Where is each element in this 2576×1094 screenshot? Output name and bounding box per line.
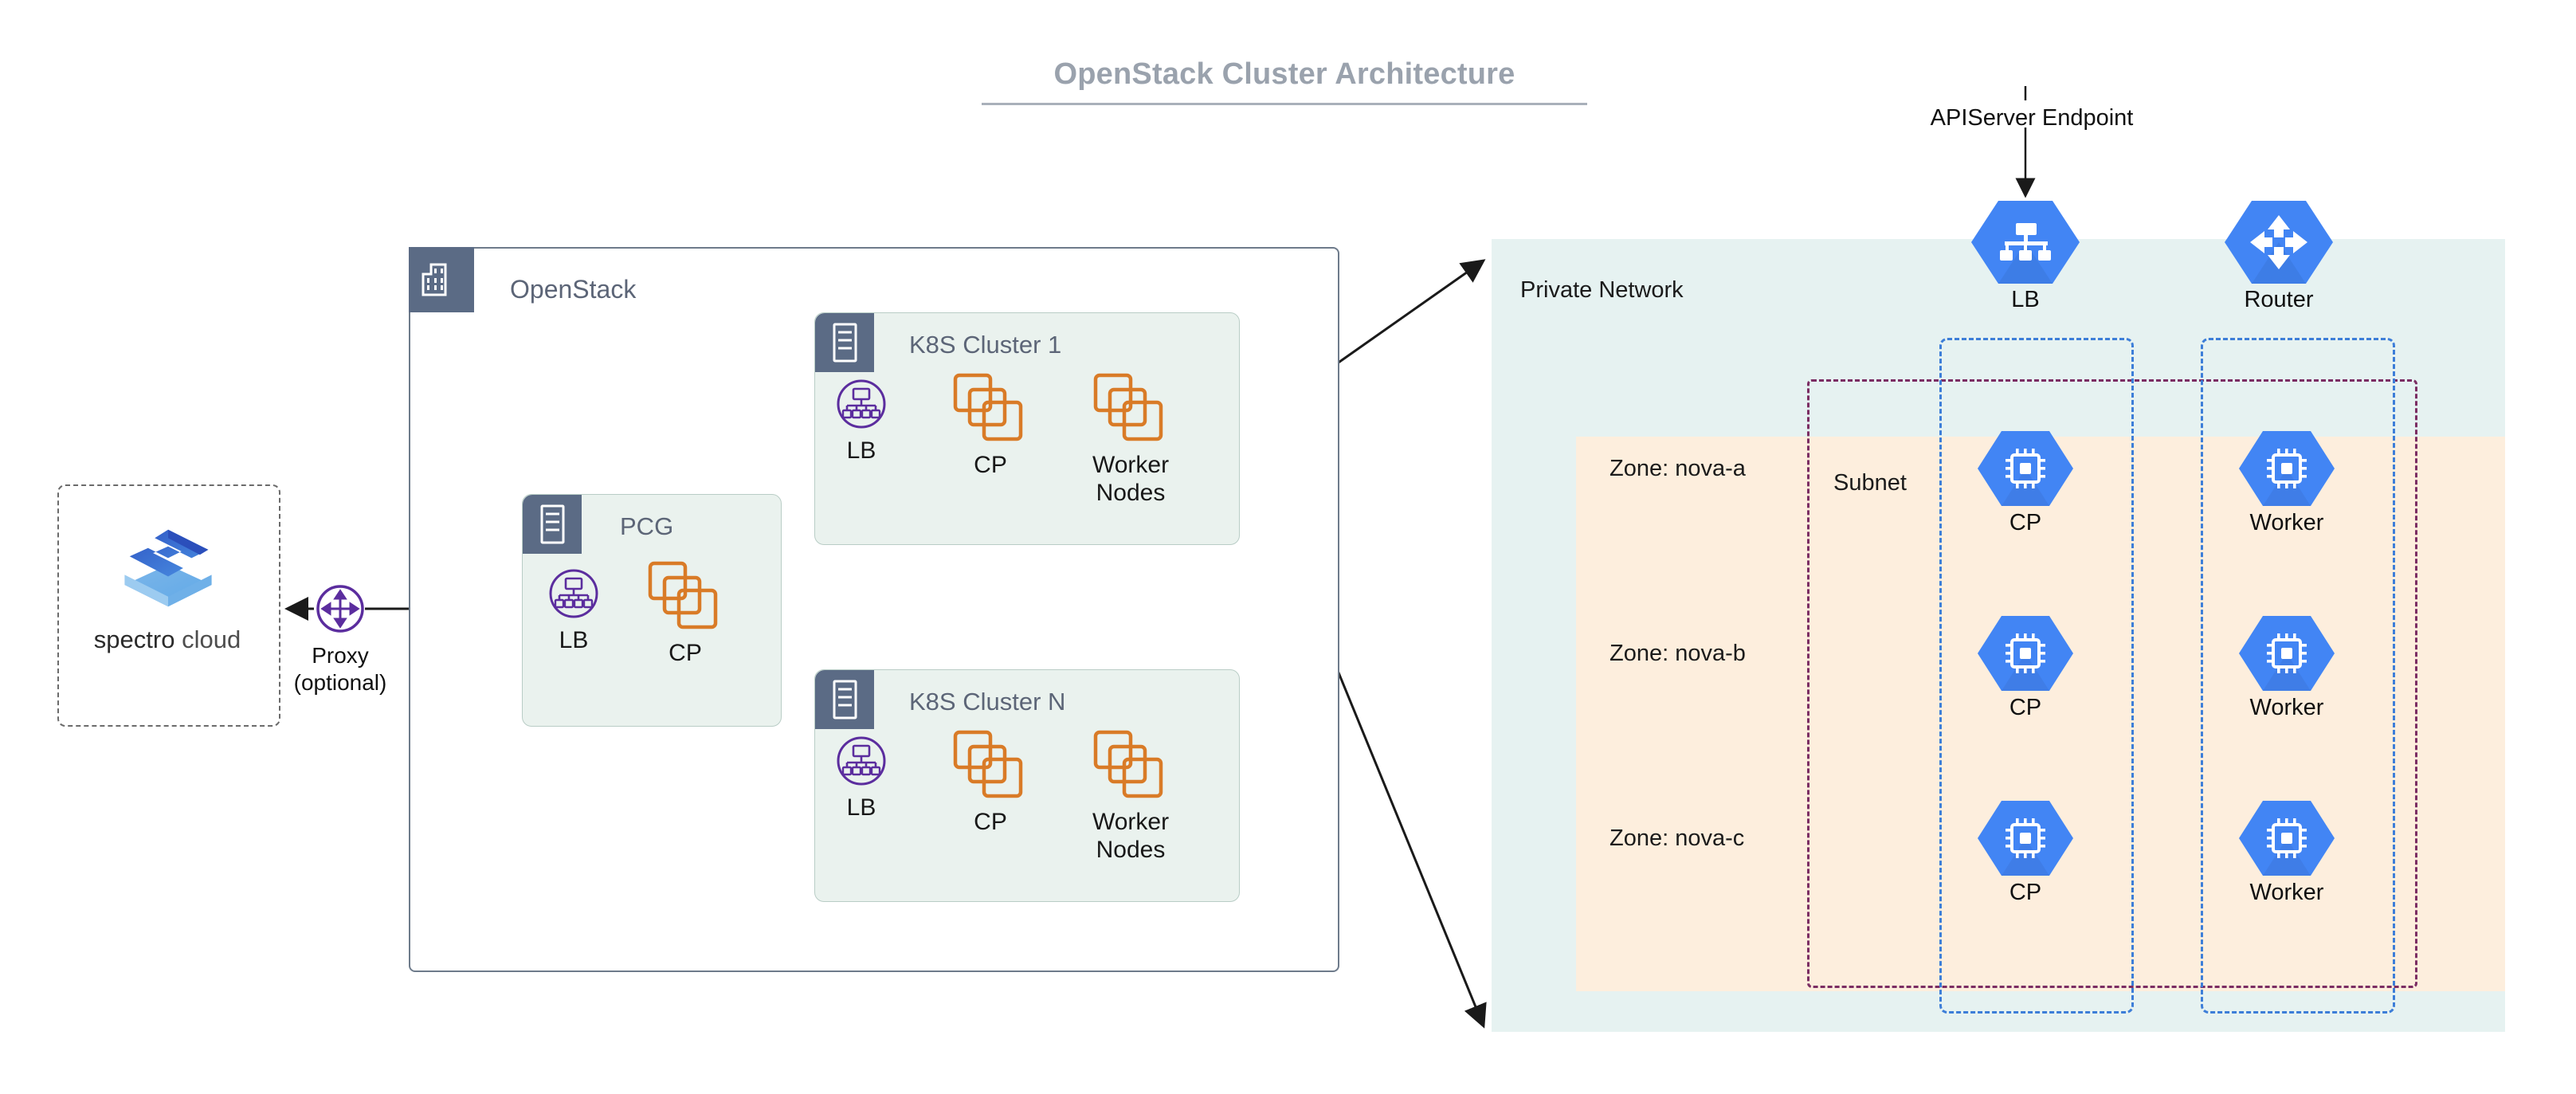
stacked-nodes-icon: [647, 560, 723, 630]
proxy-label: Proxy (optional): [261, 642, 420, 696]
server-rack-icon: [815, 670, 874, 729]
proxy-label-line1: Proxy: [261, 642, 420, 669]
pcg-card: PCG LB: [522, 494, 782, 727]
cpu-chip-hex-icon: [2231, 798, 2343, 878]
cpu-chip-hex-icon: [1970, 429, 2081, 508]
zone-b-worker-label: Worker: [2199, 695, 2374, 721]
stacked-nodes-icon: [1092, 729, 1169, 799]
spectro-cloud-wordmark: spectro cloud: [57, 625, 277, 654]
cpu-chip-hex-icon: [1970, 614, 2081, 693]
zone-c-cp-label: CP: [1938, 880, 2113, 906]
pcg-lb-label: LB: [523, 627, 625, 655]
openstack-title: OpenStack: [510, 275, 636, 304]
proxy-label-line2: (optional): [261, 669, 420, 696]
k8s1-worker-label: Worker Nodes: [1080, 452, 1182, 508]
zone-label-nova-b: Zone: nova-b: [1610, 641, 1746, 667]
spectro-cloud-logo-icon: [118, 518, 218, 618]
private-network-label: Private Network: [1520, 277, 1684, 304]
proxy-move-icon: [316, 584, 365, 633]
load-balancer-hex-icon: [1962, 198, 2089, 287]
k8sN-worker-label-line1: Worker: [1080, 809, 1182, 837]
k8sN-worker-label: Worker Nodes: [1080, 809, 1182, 865]
server-rack-icon: [815, 313, 874, 372]
load-balancer-icon: [836, 735, 887, 786]
pcg-cp-label: CP: [634, 640, 736, 668]
spectro-word-light: cloud: [174, 625, 241, 653]
private-router-label: Router: [2191, 287, 2366, 313]
stacked-nodes-icon: [1092, 372, 1169, 442]
zone-label-nova-a: Zone: nova-a: [1610, 456, 1746, 482]
zone-c-worker-label: Worker: [2199, 880, 2374, 906]
datacenter-building-icon: [409, 247, 474, 312]
k8sN-cp-label: CP: [939, 809, 1041, 837]
load-balancer-icon: [548, 568, 599, 619]
k8s1-cp-label: CP: [939, 452, 1041, 480]
cpu-chip-hex-icon: [2231, 429, 2343, 508]
k8s-cluster-n-card: K8S Cluster N: [814, 669, 1240, 902]
diagram-canvas: OpenStack Cluster Architecture: [0, 0, 2576, 1094]
load-balancer-icon: [836, 378, 887, 429]
private-lb-label: LB: [1938, 287, 2113, 313]
zone-b-cp-label: CP: [1938, 695, 2113, 721]
stacked-nodes-icon: [952, 729, 1029, 799]
zone-a-worker-label: Worker: [2199, 510, 2374, 536]
subnet-label: Subnet: [1833, 470, 1907, 496]
k8sN-worker-label-line2: Nodes: [1080, 837, 1182, 865]
stacked-nodes-icon: [952, 372, 1029, 442]
router-hex-icon: [2215, 198, 2343, 287]
k8s-cluster-n-title: K8S Cluster N: [909, 688, 1065, 716]
k8s1-lb-label: LB: [810, 437, 912, 465]
pcg-title: PCG: [620, 512, 673, 541]
k8sN-lb-label: LB: [810, 794, 912, 822]
k8s-cluster-1-title: K8S Cluster 1: [909, 331, 1061, 359]
zone-a-cp-label: CP: [1938, 510, 2113, 536]
cpu-chip-hex-icon: [1970, 798, 2081, 878]
server-rack-icon: [523, 495, 582, 554]
zone-label-nova-c: Zone: nova-c: [1610, 825, 1744, 852]
spectro-word-bold: spectro: [94, 625, 175, 653]
k8s1-worker-label-line2: Nodes: [1080, 480, 1182, 508]
page-title: OpenStack Cluster Architecture: [982, 57, 1587, 105]
cpu-chip-hex-icon: [2231, 614, 2343, 693]
k8s-cluster-1-card: K8S Cluster 1: [814, 312, 1240, 545]
apiserver-endpoint-label: APIServer Endpoint: [1872, 105, 2191, 131]
k8s1-worker-label-line1: Worker: [1080, 452, 1182, 480]
